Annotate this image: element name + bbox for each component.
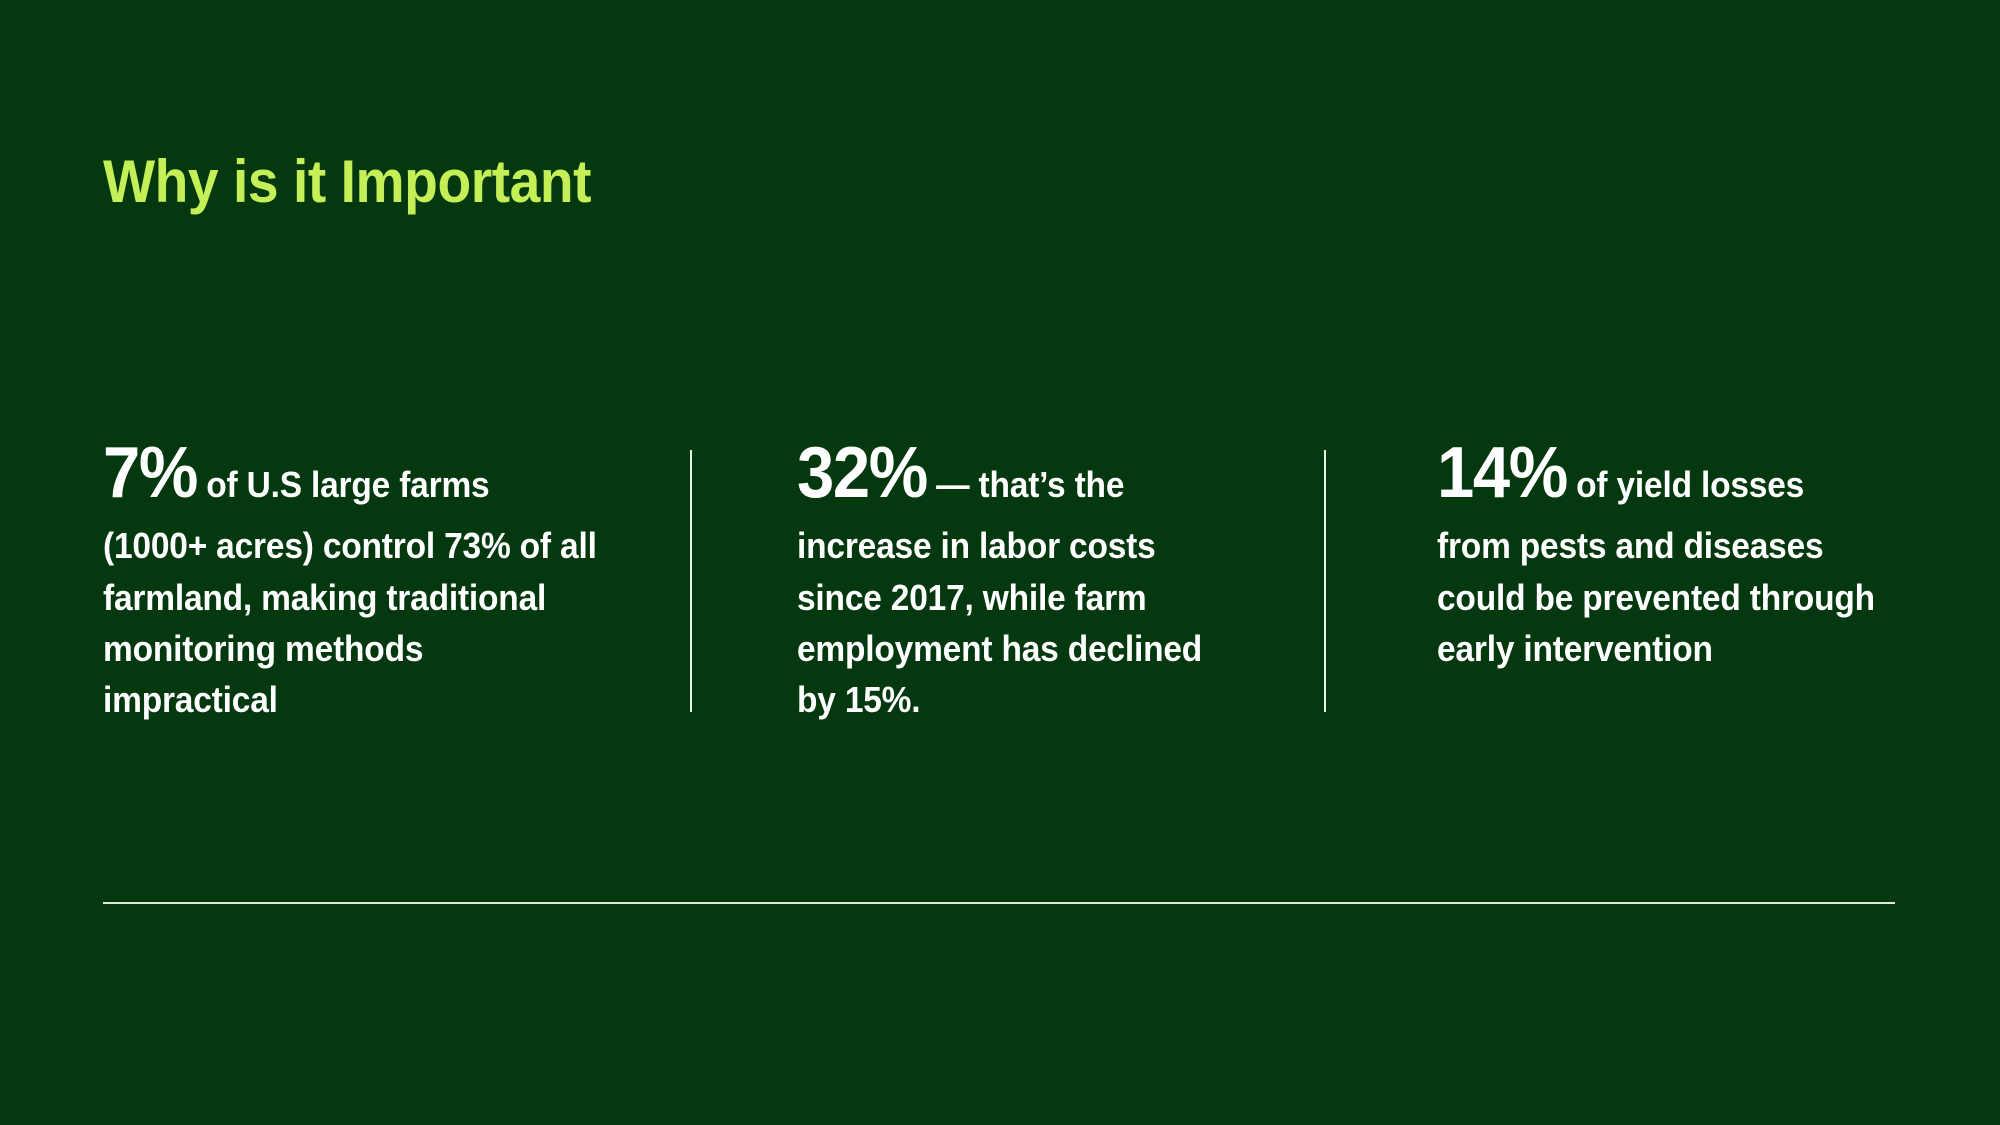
stat-body-2: increase in labor costs since 2017, whil…: [797, 520, 1229, 724]
slide-canvas: Why is it Important 7%of U.S large farms…: [0, 0, 2000, 1125]
stat-card-1: 7%of U.S large farms (1000+ acres) contr…: [103, 437, 603, 725]
stat-caption-2: — that’s the: [936, 464, 1124, 505]
page-title: Why is it Important: [103, 152, 591, 212]
stat-headline-3: 14%of yield losses: [1437, 437, 1879, 510]
stat-number-3: 14%: [1437, 433, 1567, 513]
stat-caption-1: of U.S large farms: [206, 464, 489, 505]
stat-number-2: 32%: [797, 433, 927, 513]
stat-card-2: 32%— that’s the increase in labor costs …: [797, 437, 1227, 725]
stat-body-3: from pests and diseases could be prevent…: [1437, 520, 1914, 673]
stats-row: 7%of U.S large farms (1000+ acres) contr…: [0, 437, 2000, 757]
stat-headline-1: 7%of U.S large farms: [103, 437, 568, 510]
stat-body-1: (1000+ acres) control 73% of all farmlan…: [103, 520, 605, 724]
stat-caption-3: of yield losses: [1576, 464, 1804, 505]
stat-number-1: 7%: [103, 433, 197, 513]
footer-rule: [103, 902, 1895, 904]
column-divider-2: [1324, 450, 1326, 712]
column-divider-1: [690, 450, 692, 712]
stat-card-3: 14%of yield losses from pests and diseas…: [1437, 437, 1912, 674]
stat-headline-2: 32%— that’s the: [797, 437, 1197, 510]
